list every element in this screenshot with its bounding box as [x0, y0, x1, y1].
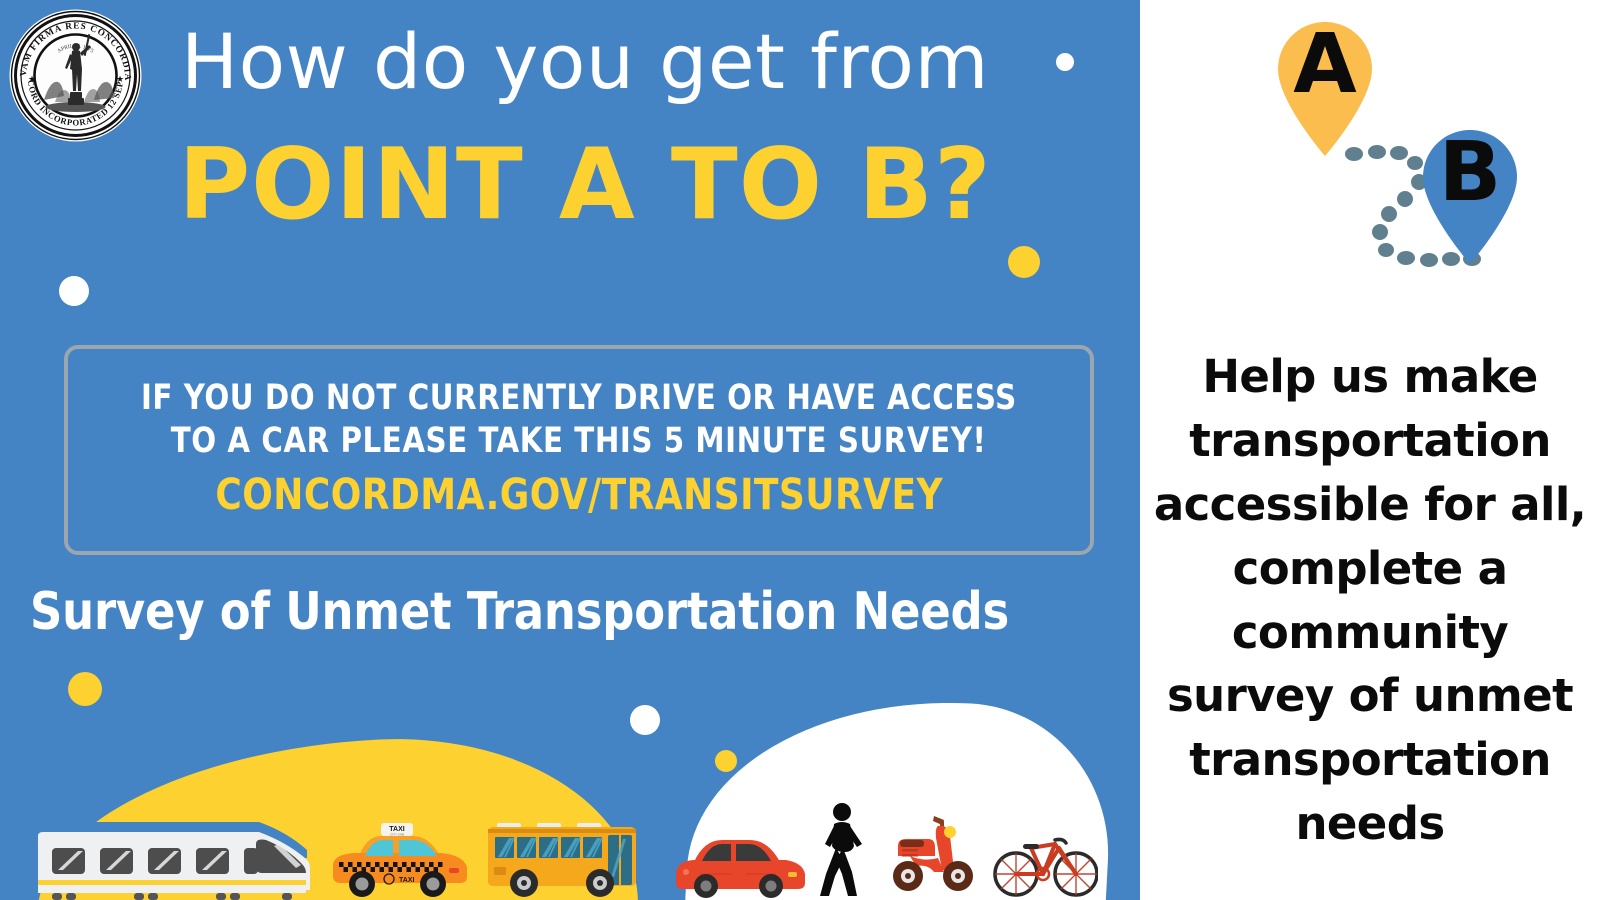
dot-white-left: [59, 276, 89, 306]
route-pins-graphic: A: [1140, 0, 1600, 320]
vehicle-pedestrian: [812, 800, 872, 900]
town-seal: QVAM FIRMA RES CONCORDIA. CONCORD INCORP…: [8, 8, 143, 143]
survey-url[interactable]: CONCORDMA.GOV/TRANSITSURVEY: [215, 469, 943, 523]
vehicle-bicycle: [993, 818, 1098, 900]
pin-b: B: [1423, 125, 1517, 264]
svg-text:A: A: [1293, 17, 1357, 112]
page-headline: How do you get from: [170, 24, 1000, 100]
vehicle-car: [672, 828, 807, 900]
svg-text:B: B: [1439, 125, 1502, 220]
callout-line-2: TO A CAR PLEASE TAKE THIS 5 MINUTE SURVE…: [171, 420, 987, 463]
svg-text:CITY CAB: CITY CAB: [390, 833, 404, 837]
svg-text:TAXI: TAXI: [399, 877, 414, 884]
dot-yellow-mid-low: [715, 750, 737, 772]
dot-white-mid-low: [630, 705, 660, 735]
vehicle-taxi: TAXI CITY CAB: [325, 820, 470, 900]
vehicle-bus: [480, 805, 645, 900]
callout-line-1: IF YOU DO NOT CURRENTLY DRIVE OR HAVE AC…: [141, 377, 1017, 420]
right-white-panel: A: [1140, 0, 1600, 900]
dot-yellow-right: [1008, 246, 1040, 278]
left-blue-panel: QVAM FIRMA RES CONCORDIA. CONCORD INCORP…: [0, 0, 1140, 900]
svg-text:★: ★: [28, 74, 36, 84]
dot-yellow-left-low: [68, 672, 102, 706]
page-subtitle: Survey of Unmet Transportation Needs: [30, 582, 1076, 642]
vehicle-train: [30, 810, 320, 900]
vehicle-scooter: [882, 800, 982, 900]
survey-callout-box: IF YOU DO NOT CURRENTLY DRIVE OR HAVE AC…: [64, 345, 1094, 555]
svg-text:★: ★: [116, 74, 124, 84]
page-headline-emphasis: POINT A TO B?: [170, 136, 1000, 234]
help-paragraph: Help us make transportation accessible f…: [1150, 345, 1590, 856]
poster: QVAM FIRMA RES CONCORDIA. CONCORD INCORP…: [0, 0, 1600, 900]
pin-a: A: [1278, 17, 1372, 156]
dot-white-top-right: [1056, 53, 1074, 71]
